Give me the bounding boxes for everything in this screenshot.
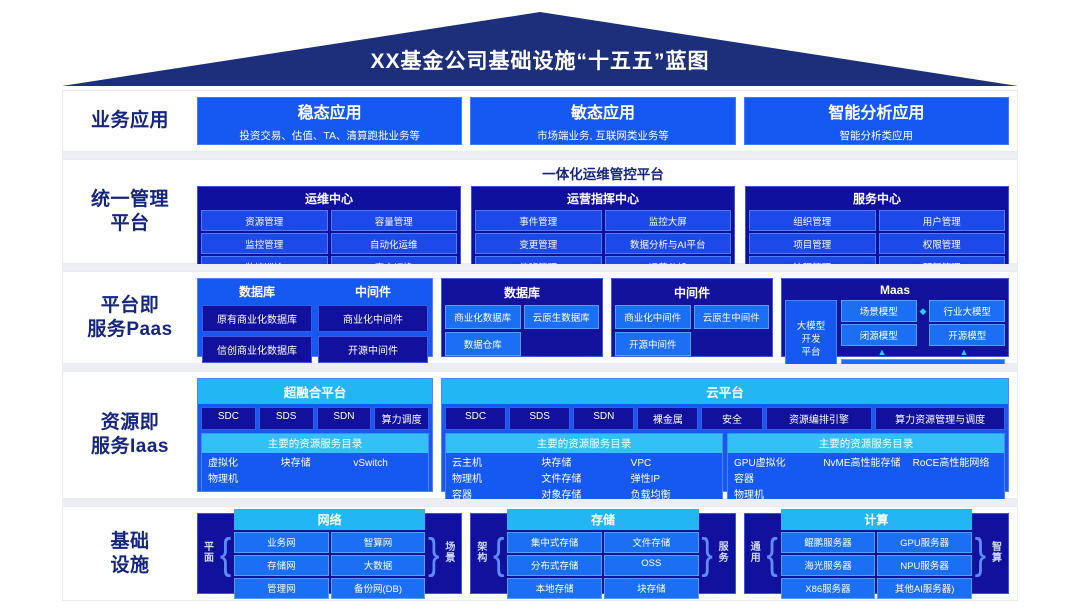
- center-item[interactable]: 监控大屏: [605, 210, 732, 231]
- catalog-item: RoCE高性能网络: [913, 457, 998, 471]
- infra-core: 存储 集中式存储 文件存储 分布式存储 OSS 本地存储 块存储: [507, 509, 698, 599]
- row-label-management: 统一管理平台: [63, 160, 197, 263]
- page-title: XX基金公司基础设施“十五五”蓝图: [370, 45, 709, 86]
- row-label-business: 业务应用: [63, 91, 197, 151]
- maas-item[interactable]: 场景模型: [841, 300, 917, 322]
- infra-left-label: 平面: [201, 543, 217, 564]
- catalog-column: 虚拟化 物理机: [208, 457, 277, 487]
- infra-card-network: 平面 { 网络 业务网 智算网 存储网 大数据 管理网 备份网(DB) } 场景: [197, 513, 462, 594]
- layer-unified-management-platform: 统一管理平台 一体化运维管控平台 运维中心 资源管理 容量管理 监控管理 自动化…: [62, 159, 1018, 264]
- panel-item[interactable]: 云原生数据库: [524, 305, 600, 329]
- infra-item[interactable]: X86服务器: [781, 578, 876, 599]
- catalog-item: 虚拟化: [208, 457, 277, 471]
- chip[interactable]: SDS: [259, 407, 314, 430]
- infra-card-storage: 架构 { 存储 集中式存储 文件存储 分布式存储 OSS 本地存储 块存储 } …: [470, 513, 735, 594]
- arrow-up-icon: ▲: [923, 348, 1005, 357]
- infra-item[interactable]: 大数据: [331, 555, 426, 576]
- iaas-hyperconverged-panel: 超融合平台 SDC SDS SDN 算力调度 主要的资源服务目录 虚拟化 物理机: [197, 378, 433, 492]
- paas-panel-database: 数据库 商业化数据库 云原生数据库 数据仓库: [441, 278, 603, 357]
- infra-item[interactable]: 文件存储: [604, 532, 699, 553]
- panel-header: 中间件: [615, 282, 769, 305]
- panel-header: 数据库: [445, 282, 599, 305]
- paas-legacy-panel: 数据库 原有商业化数据库 信创商业化数据库 中间件 商业化中间件 开源中间件: [197, 278, 433, 357]
- infra-right-label: 智算: [989, 543, 1005, 564]
- catalog-item: 容器: [734, 473, 819, 487]
- infra-core: 计算 鲲鹏服务器 GPU服务器 海光服务器 NPU服务器 X86服务器 其他AI…: [781, 509, 972, 599]
- panel-items: 商业化数据库 云原生数据库 数据仓库: [445, 305, 599, 356]
- maas-header: Maas: [785, 282, 1005, 300]
- row-label-infrastructure: 基础设施: [63, 507, 197, 600]
- chip[interactable]: 安全: [701, 407, 762, 430]
- paas-item[interactable]: 原有商业化数据库: [202, 305, 312, 332]
- arrow-up-row: ▲ ▲: [841, 348, 1005, 357]
- infra-item[interactable]: 集中式存储: [507, 532, 602, 553]
- hyperconverged-chips: SDC SDS SDN 算力调度: [198, 404, 432, 433]
- chip[interactable]: 算力资源管理与调度: [875, 407, 1005, 430]
- app-card-agile[interactable]: 敏态应用 市场端业务, 互联网类业务等: [470, 97, 735, 145]
- center-item[interactable]: 容量管理: [331, 210, 458, 231]
- panel-item[interactable]: 商业化中间件: [615, 305, 691, 329]
- infra-left-label: 架构: [474, 543, 490, 564]
- center-item[interactable]: 组织管理: [749, 210, 876, 231]
- app-title: 稳态应用: [298, 99, 362, 123]
- infra-header: 计算: [781, 509, 972, 530]
- infra-left-label: 通用: [748, 543, 764, 564]
- layer-infrastructure: 基础设施 平面 { 网络 业务网 智算网 存储网 大数据 管理网 备份网(DB): [62, 506, 1018, 601]
- infra-item[interactable]: 管理网: [234, 578, 329, 599]
- infra-header: 网络: [234, 509, 425, 530]
- catalog-column: 块存储: [281, 457, 350, 487]
- catalog-body: 虚拟化 物理机 块存储 vSwitch: [202, 453, 428, 491]
- infra-core: 网络 业务网 智算网 存储网 大数据 管理网 备份网(DB): [234, 509, 425, 599]
- app-card-intelligent-analytics[interactable]: 智能分析应用 智能分析类应用: [744, 97, 1009, 145]
- panel-item[interactable]: 商业化数据库: [445, 305, 521, 329]
- catalog-item: 块存储: [541, 457, 626, 471]
- infrastructure-body: 平面 { 网络 业务网 智算网 存储网 大数据 管理网 备份网(DB) } 场景: [197, 507, 1017, 600]
- center-header: 服务中心: [749, 187, 1005, 210]
- catalog-header: 主要的资源服务目录: [446, 434, 722, 453]
- infra-item[interactable]: 备份网(DB): [331, 578, 426, 599]
- center-header: 运营指挥中心: [475, 187, 731, 210]
- center-item[interactable]: 用户管理: [879, 210, 1006, 231]
- infra-items: 鲲鹏服务器 GPU服务器 海光服务器 NPU服务器 X86服务器 其他AI服务器…: [781, 532, 972, 599]
- resource-catalog: 主要的资源服务目录 虚拟化 物理机 块存储 vSwitch: [201, 433, 429, 492]
- maas-row-source: 闭源模型 ◆ 开源模型: [841, 324, 1005, 346]
- center-item[interactable]: 事件管理: [475, 210, 602, 231]
- app-subtitle: 投资交易、估值、TA、清算跑批业务等: [239, 128, 420, 143]
- row-label-iaas: 资源即服务Iaas: [63, 372, 197, 498]
- catalog-item: 文件存储: [541, 473, 626, 487]
- layer-business-applications: 业务应用 稳态应用 投资交易、估值、TA、清算跑批业务等 敏态应用 市场端业务,…: [62, 90, 1018, 152]
- center-item[interactable]: 数据分析与AI平台: [605, 233, 732, 254]
- panel-item[interactable]: 云原生中间件: [694, 305, 770, 329]
- catalog-header: 主要的资源服务目录: [202, 434, 428, 453]
- maas-item[interactable]: 开源模型: [929, 324, 1005, 346]
- infra-header: 存储: [507, 509, 698, 530]
- management-body: 一体化运维管控平台 运维中心 资源管理 容量管理 监控管理 自动化运维 监控巡检…: [197, 160, 1017, 263]
- catalog-item: 弹性IP: [631, 473, 716, 487]
- cloud-platform-header: 云平台: [442, 379, 1008, 404]
- chip[interactable]: SDS: [509, 407, 570, 430]
- center-item[interactable]: 变更管理: [475, 233, 602, 254]
- paas-panel-maas: Maas 大模型开发平台 场景模型 ◆ 行业大模型 闭源模型 ◆ 开源模型: [781, 278, 1009, 357]
- row-separator: [62, 264, 1018, 271]
- roof-shape: XX基金公司基础设施“十五五”蓝图: [62, 12, 1018, 86]
- chip[interactable]: SDC: [445, 407, 506, 430]
- paas-column-database: 数据库 原有商业化数据库 信创商业化数据库: [202, 283, 312, 352]
- catalog-column: vSwitch: [353, 457, 422, 487]
- center-item[interactable]: 监控管理: [201, 233, 328, 254]
- panel-item-empty: [694, 332, 770, 356]
- hyperconverged-catalog-wrap: 主要的资源服务目录 虚拟化 物理机 块存储 vSwitch: [198, 433, 432, 492]
- panel-item[interactable]: 数据仓库: [445, 332, 521, 356]
- app-card-stable[interactable]: 稳态应用 投资交易、估值、TA、清算跑批业务等: [197, 97, 462, 145]
- center-item[interactable]: 自动化运维: [331, 233, 458, 254]
- blueprint-diagram: XX基金公司基础设施“十五五”蓝图 业务应用 稳态应用 投资交易、估值、TA、清…: [0, 0, 1080, 608]
- layer-paas: 平台即服务Paas 数据库 原有商业化数据库 信创商业化数据库 中间件 商业化中…: [62, 271, 1018, 364]
- app-title: 敏态应用: [571, 99, 635, 123]
- iaas-body: 超融合平台 SDC SDS SDN 算力调度 主要的资源服务目录 虚拟化 物理机: [197, 372, 1017, 498]
- hyperconverged-header: 超融合平台: [198, 379, 432, 404]
- row-separator: [62, 152, 1018, 159]
- chip[interactable]: 裸金属: [637, 407, 698, 430]
- catalog-item: VPC: [631, 457, 716, 471]
- infra-card-compute: 通用 { 计算 鲲鹏服务器 GPU服务器 海光服务器 NPU服务器 X86服务器…: [744, 513, 1009, 594]
- catalog-column: VPC 弹性IP 负载均衡: [631, 457, 716, 503]
- paas-column-middleware: 中间件 商业化中间件 开源中间件: [318, 283, 428, 352]
- paas-column-header: 中间件: [318, 283, 428, 301]
- paas-cloudnative-group: 数据库 商业化数据库 云原生数据库 数据仓库 中间件 商业化中间件 云原生中间件…: [441, 278, 773, 357]
- center-header: 运维中心: [201, 187, 457, 210]
- app-title: 智能分析应用: [828, 99, 924, 123]
- catalog-column: NvME高性能存储: [823, 457, 908, 503]
- chip[interactable]: SDN: [317, 407, 372, 430]
- business-apps-body: 稳态应用 投资交易、估值、TA、清算跑批业务等 敏态应用 市场端业务, 互联网类…: [197, 91, 1017, 151]
- roof-banner: XX基金公司基础设施“十五五”蓝图: [0, 0, 1080, 88]
- chip[interactable]: 资源编排引擎: [766, 407, 873, 430]
- panel-items: 商业化中间件 云原生中间件 开源中间件: [615, 305, 769, 356]
- catalog-item: 物理机: [208, 473, 277, 487]
- chip[interactable]: SDC: [201, 407, 256, 430]
- infra-item[interactable]: 本地存储: [507, 578, 602, 599]
- catalog-item: 云主机: [452, 457, 537, 471]
- infra-right-label: 场景: [442, 543, 458, 564]
- cloud-catalog-wrap: 主要的资源服务目录 云主机 物理机 容器 块存储 文件存储 对象存储: [442, 433, 1008, 508]
- catalog-column: GPU虚拟化 容器 物理机: [734, 457, 819, 503]
- maas-item[interactable]: 闭源模型: [841, 324, 917, 346]
- paas-item[interactable]: 商业化中间件: [318, 305, 428, 332]
- row-label-paas: 平台即服务Paas: [63, 272, 197, 363]
- resource-catalog: 主要的资源服务目录 GPU虚拟化 容器 物理机 NvME高性能存储: [727, 433, 1005, 508]
- infra-item[interactable]: 其他AI服务器): [877, 578, 972, 599]
- infra-item[interactable]: 鲲鹏服务器: [781, 532, 876, 553]
- catalog-item: GPU虚拟化: [734, 457, 819, 471]
- center-item[interactable]: 权限管理: [879, 233, 1006, 254]
- infra-item[interactable]: 海光服务器: [781, 555, 876, 576]
- infra-items: 业务网 智算网 存储网 大数据 管理网 备份网(DB): [234, 532, 425, 599]
- catalog-item: vSwitch: [353, 457, 422, 471]
- infra-item[interactable]: OSS: [604, 555, 699, 576]
- row-separator: [62, 364, 1018, 371]
- maas-row-scenario: 场景模型 ◆ 行业大模型: [841, 300, 1005, 322]
- app-subtitle: 智能分析类应用: [840, 128, 914, 143]
- app-subtitle: 市场端业务, 互联网类业务等: [537, 128, 669, 143]
- arrow-up-icon: ▲: [841, 348, 923, 357]
- catalog-header: 主要的资源服务目录: [728, 434, 1004, 453]
- infra-item[interactable]: 分布式存储: [507, 555, 602, 576]
- row-separator: [62, 499, 1018, 506]
- chip[interactable]: 算力调度: [374, 407, 429, 430]
- iaas-cloud-platform-panel: 云平台 SDC SDS SDN 裸金属 安全 资源编排引擎 算力资源管理与调度 …: [441, 378, 1009, 492]
- infra-item[interactable]: 业务网: [234, 532, 329, 553]
- catalog-column: RoCE高性能网络: [913, 457, 998, 503]
- paas-item[interactable]: 信创商业化数据库: [202, 336, 312, 363]
- paas-panel-middleware: 中间件 商业化中间件 云原生中间件 开源中间件: [611, 278, 773, 357]
- infra-item[interactable]: 存储网: [234, 555, 329, 576]
- catalog-column: 块存储 文件存储 对象存储: [541, 457, 626, 503]
- resource-catalog: 主要的资源服务目录 云主机 物理机 容器 块存储 文件存储 对象存储: [445, 433, 723, 508]
- platform-title: 一体化运维管控平台: [197, 162, 1009, 186]
- maas-item[interactable]: 行业大模型: [929, 300, 1005, 322]
- arrow-left-right-icon: ◆: [920, 307, 927, 316]
- infra-item[interactable]: GPU服务器: [877, 532, 972, 553]
- layer-iaas: 资源即服务Iaas 超融合平台 SDC SDS SDN 算力调度 主要的资源服务…: [62, 371, 1018, 499]
- infra-item[interactable]: 块存储: [604, 578, 699, 599]
- panel-item[interactable]: 开源中间件: [615, 332, 691, 356]
- infra-item[interactable]: NPU服务器: [877, 555, 972, 576]
- catalog-item: 物理机: [452, 473, 537, 487]
- catalog-item: NvME高性能存储: [823, 457, 908, 471]
- paas-body: 数据库 原有商业化数据库 信创商业化数据库 中间件 商业化中间件 开源中间件 数…: [197, 272, 1017, 363]
- infra-items: 集中式存储 文件存储 分布式存储 OSS 本地存储 块存储: [507, 532, 698, 599]
- center-item[interactable]: 资源管理: [201, 210, 328, 231]
- center-item[interactable]: 项目管理: [749, 233, 876, 254]
- infra-right-label: 服务: [716, 543, 732, 564]
- cloud-platform-chips: SDC SDS SDN 裸金属 安全 资源编排引擎 算力资源管理与调度: [442, 404, 1008, 433]
- infra-item[interactable]: 智算网: [331, 532, 426, 553]
- catalog-column: 云主机 物理机 容器: [452, 457, 537, 503]
- catalog-item: 块存储: [281, 457, 350, 471]
- paas-column-header: 数据库: [202, 283, 312, 301]
- chip[interactable]: SDN: [573, 407, 634, 430]
- panel-item-empty: [524, 332, 600, 356]
- paas-item[interactable]: 开源中间件: [318, 336, 428, 363]
